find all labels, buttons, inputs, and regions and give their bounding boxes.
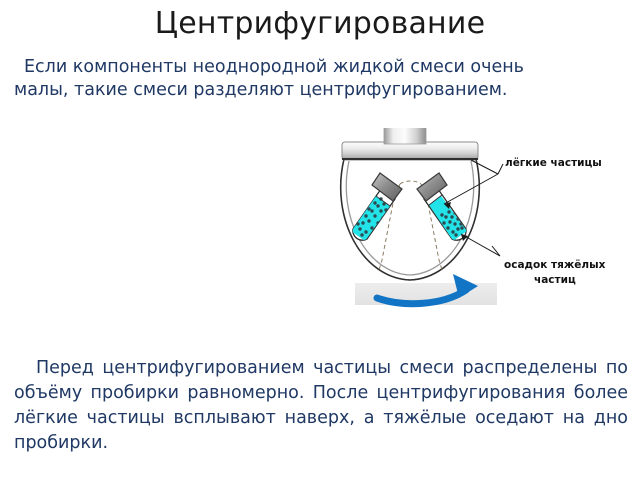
intro-paragraph: Если компоненты неоднородной жидкой смес… [14,56,574,102]
conclusion-paragraph: Перед центрифугированием частицы смеси р… [14,356,628,456]
label-heavy-sediment-line1: осадок тяжёлых [504,259,606,271]
page-title: Центрифугирование [0,6,640,42]
label-heavy-sediment-line2: частиц [534,274,576,286]
rotor-disc [342,142,478,160]
label-light-particles: лёгкие частицы [505,157,602,169]
centrifuge-diagram: лёгкие частицы осадок тяжёлых частиц [322,128,640,318]
rotor-shaft [384,128,426,144]
